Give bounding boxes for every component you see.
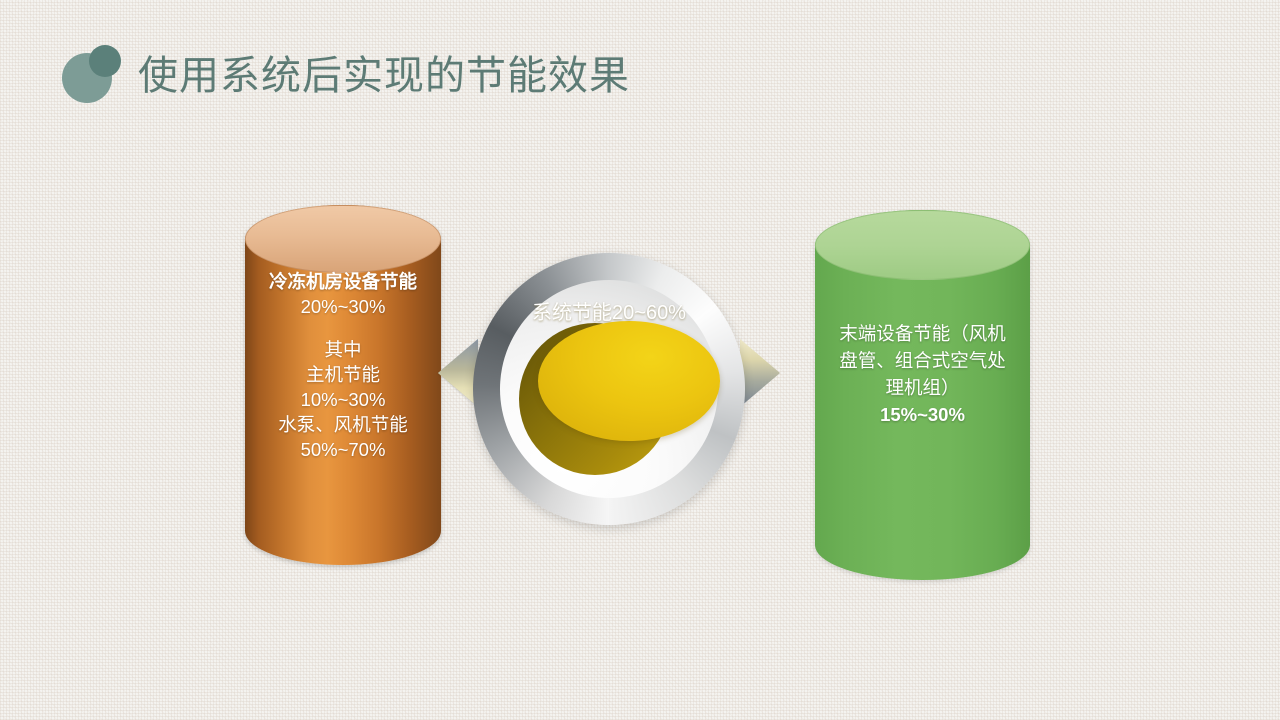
left-line-pump-fan: 水泵、风机节能 <box>245 412 441 437</box>
left-line-title: 冷冻机房设备节能 <box>245 269 441 294</box>
left-line-pump-fan-range: 50%~70% <box>245 437 441 462</box>
slide-header: 使用系统后实现的节能效果 <box>0 0 1280 135</box>
left-text-spacer <box>245 319 441 337</box>
arrow-right-icon <box>740 339 780 407</box>
logo-small-circle-icon <box>89 45 121 77</box>
gold-ellipse-shape <box>538 321 720 441</box>
center-emblem: 系统节能20~60% <box>473 253 745 525</box>
left-cylinder-text: 冷冻机房设备节能 20%~30% 其中 主机节能 10%~30% 水泵、风机节能… <box>245 269 441 462</box>
left-cylinder: 冷冻机房设备节能 20%~30% 其中 主机节能 10%~30% 水泵、风机节能… <box>245 205 441 565</box>
left-line-range: 20%~30% <box>245 294 441 319</box>
right-cylinder-top-ellipse <box>815 210 1030 280</box>
left-cylinder-top-ellipse <box>245 205 441 273</box>
left-line-subheading: 其中 <box>245 337 441 362</box>
left-line-chiller-range: 10%~30% <box>245 387 441 412</box>
right-line-range: 15%~30% <box>831 401 1014 428</box>
left-line-chiller: 主机节能 <box>245 362 441 387</box>
right-cylinder: 末端设备节能（风机盘管、组合式空气处理机组） 15%~30% <box>815 210 1030 580</box>
slide-canvas: 使用系统后实现的节能效果 冷冻机房设备节能 20%~30% 其中 主机节能 10… <box>0 0 1280 720</box>
logo-mark <box>62 45 124 103</box>
right-line-title: 末端设备节能（风机盘管、组合式空气处理机组） <box>831 320 1014 401</box>
right-cylinder-text: 末端设备节能（风机盘管、组合式空气处理机组） 15%~30% <box>815 320 1030 428</box>
page-title: 使用系统后实现的节能效果 <box>138 50 630 102</box>
emblem-label: 系统节能20~60% <box>473 296 745 325</box>
